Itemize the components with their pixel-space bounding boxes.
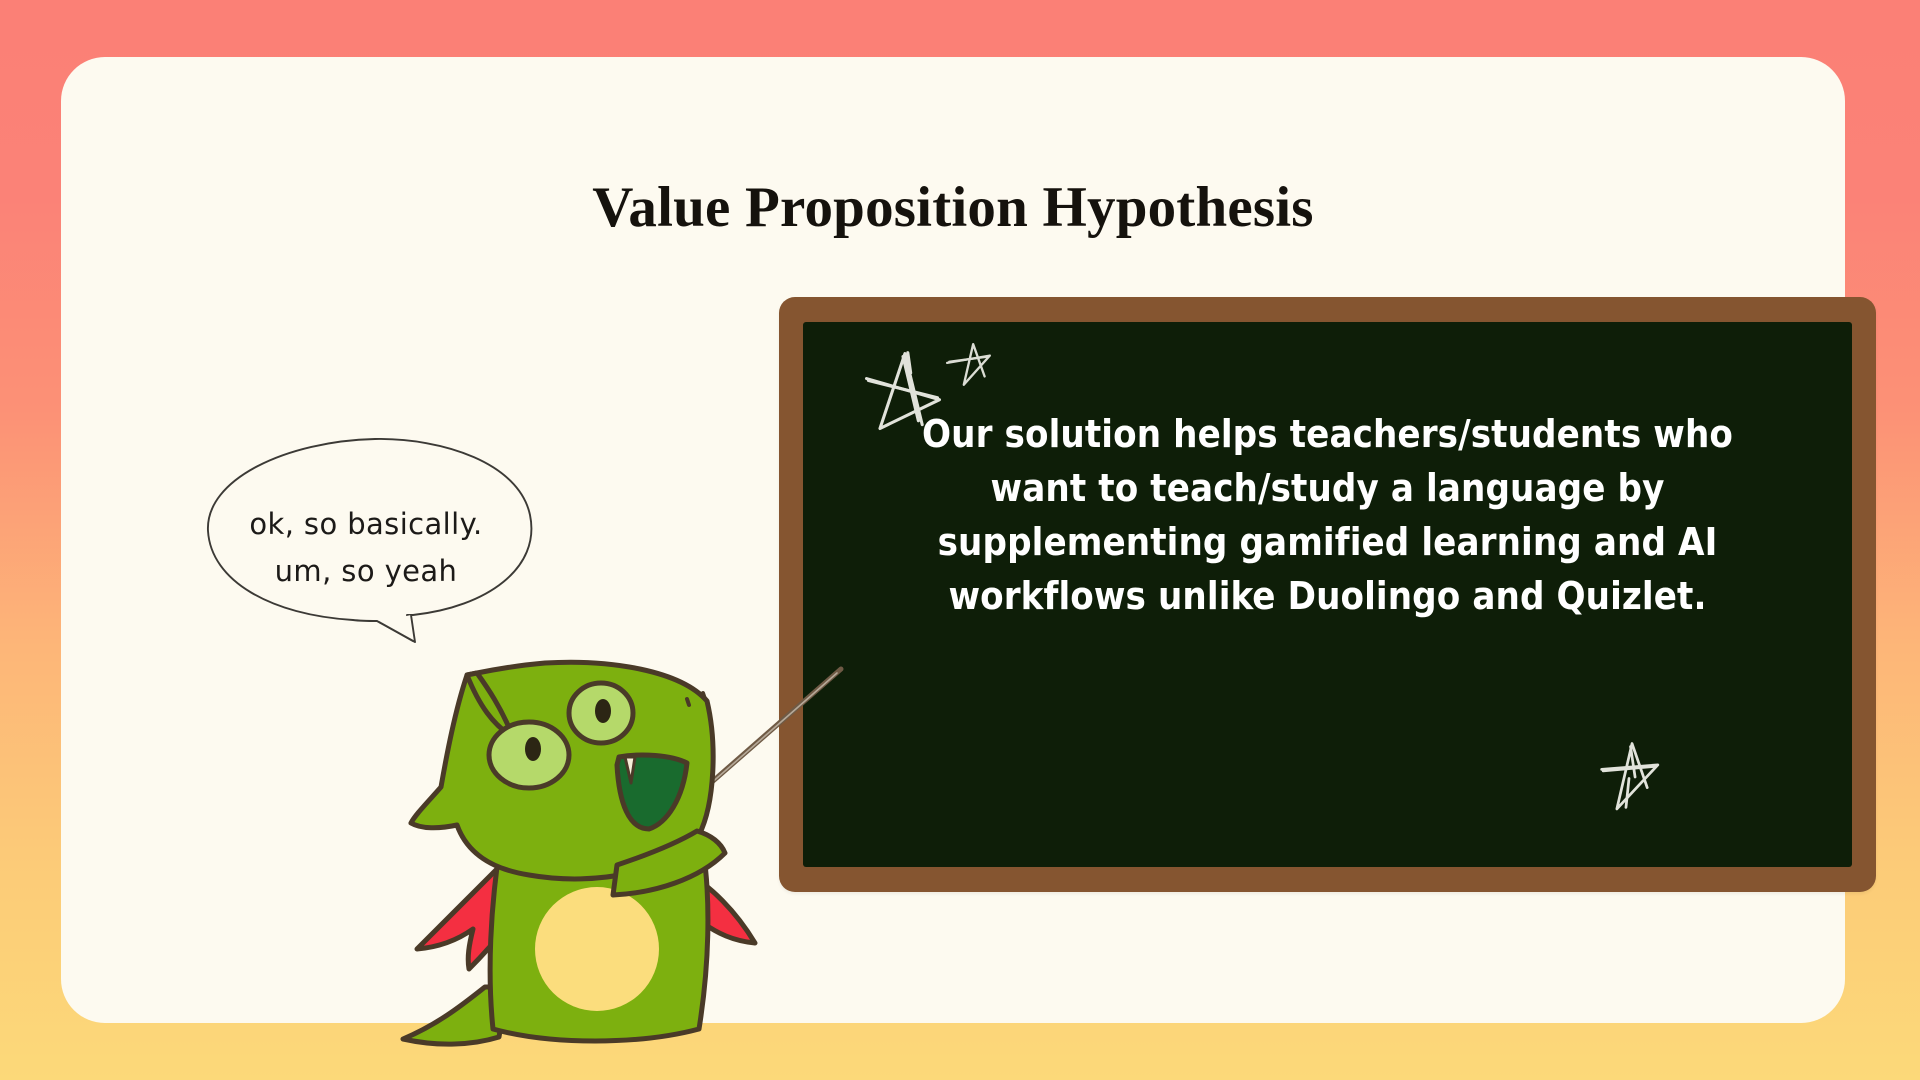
dragon-pupil-left <box>525 737 541 761</box>
dragon-belly <box>535 887 659 1011</box>
chalkboard-line: supplementing gamified learning and AI <box>841 516 1814 570</box>
speech-bubble: ok, so basically. um, so yeah <box>201 435 551 670</box>
slide-canvas: Value Proposition Hypothesis <box>0 0 1920 1080</box>
dragon-mascot-icon <box>381 657 781 1057</box>
chalkboard-line: want to teach/study a language by <box>841 462 1814 516</box>
chalkboard-line: workflows unlike Duolingo and Quizlet. <box>841 570 1814 624</box>
speech-bubble-text: ok, so basically. um, so yeah <box>201 501 531 595</box>
chalkboard-surface: Our solution helps teachers/students who… <box>803 322 1852 867</box>
chalk-star-small-icon <box>943 340 995 392</box>
speech-bubble-line: ok, so basically. <box>201 501 531 548</box>
chalkboard-frame: Our solution helps teachers/students who… <box>779 297 1876 892</box>
dragon-pupil-right <box>595 699 611 723</box>
content-card: Value Proposition Hypothesis <box>61 57 1845 1023</box>
speech-bubble-line: um, so yeah <box>201 548 531 595</box>
page-title: Value Proposition Hypothesis <box>61 175 1845 240</box>
chalkboard-line: Our solution helps teachers/students who <box>841 408 1814 462</box>
chalkboard-text: Our solution helps teachers/students who… <box>841 408 1814 624</box>
chalk-star-icon <box>1591 734 1667 820</box>
